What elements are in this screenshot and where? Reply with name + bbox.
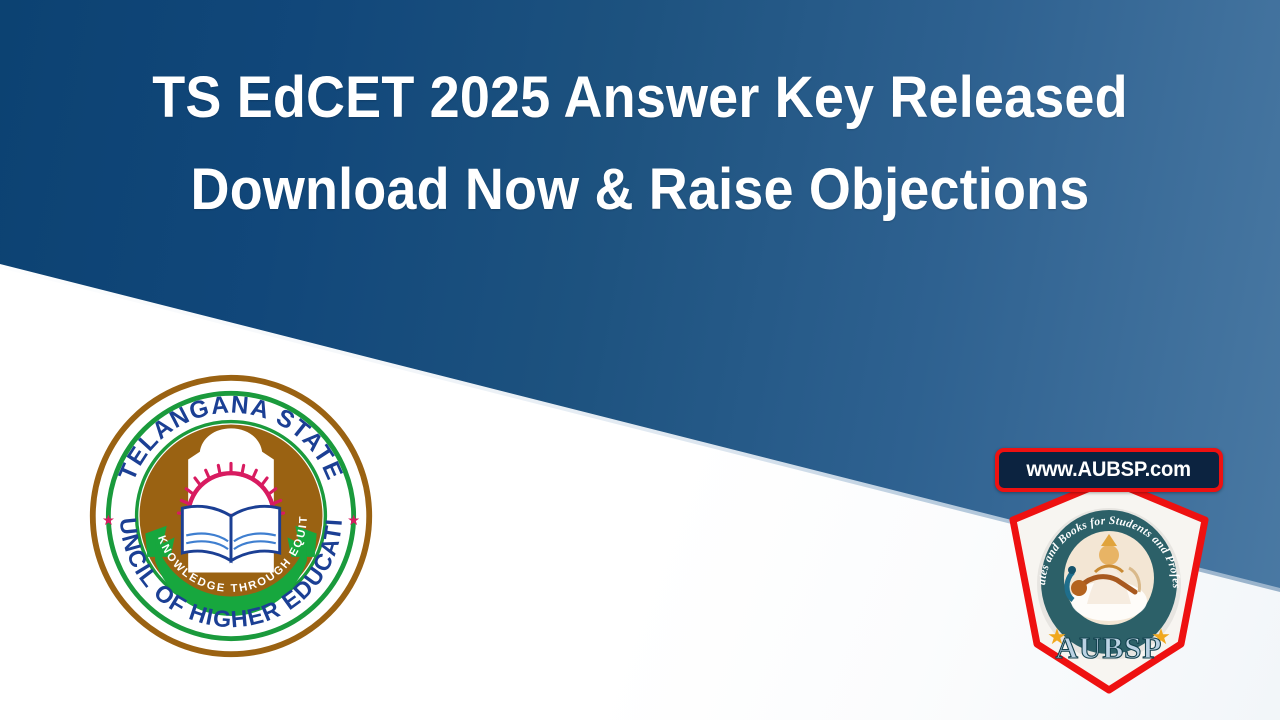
aubsp-shield-shape: All Updates and Books for Students and P… (1009, 476, 1209, 694)
aubsp-wordmark: AUBSP (1056, 630, 1163, 665)
aubsp-url-label: www.AUBSP.com (1027, 458, 1191, 482)
emblem-star-left-icon: ★ (102, 513, 115, 529)
tsche-logo: KNOWLEDGE THROUGH EQUITY TELANGANA STATE… (85, 370, 377, 662)
aubsp-url-banner[interactable]: www.AUBSP.com (995, 448, 1223, 492)
aubsp-badge[interactable]: All Updates and Books for Students and P… (995, 448, 1223, 696)
poster-canvas: TS EdCET 2025 Answer Key Released Downlo… (0, 0, 1280, 720)
emblem-star-right-icon: ★ (347, 513, 360, 529)
